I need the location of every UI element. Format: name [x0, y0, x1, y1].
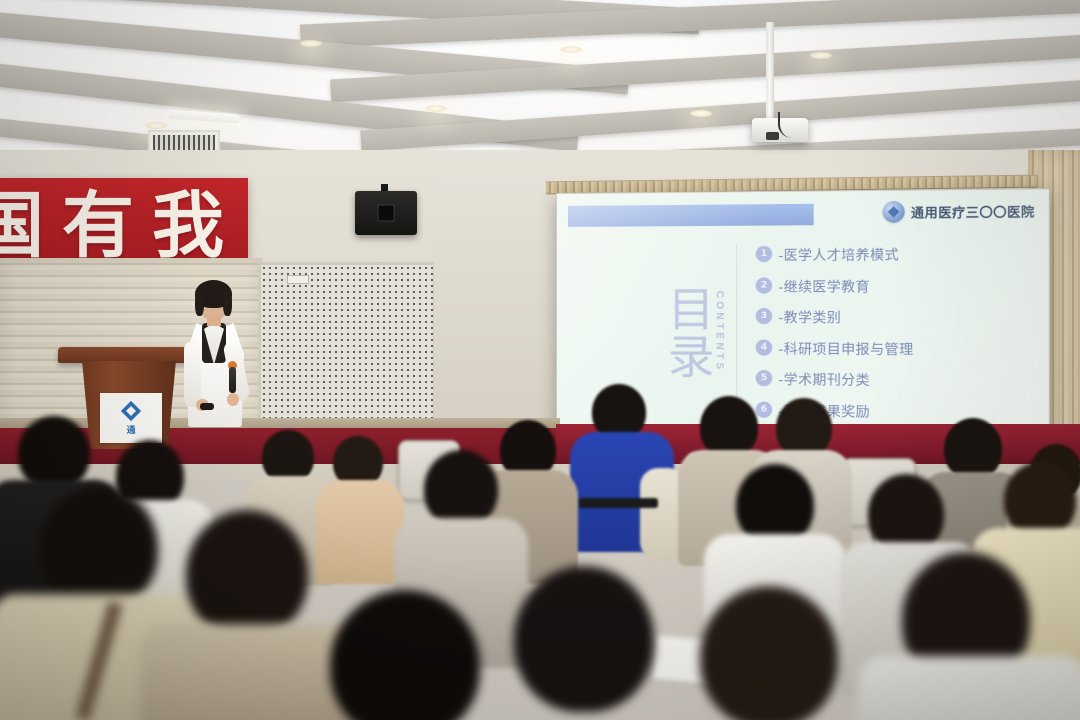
banner-text: 国有我: [0, 178, 242, 260]
audience-body: [140, 624, 362, 720]
presenter-right-hand: [227, 393, 239, 406]
toc-number-badge: 4: [756, 339, 773, 355]
audience-head: [776, 398, 832, 458]
audience-head: [944, 418, 1002, 480]
toc-item: 4 -科研项目申报与管理: [756, 337, 1049, 358]
audience-body: [858, 656, 1080, 720]
presenter: [178, 283, 250, 448]
toc-item: 2 -继续医学教育: [756, 274, 1049, 295]
wall-section-center: [434, 150, 560, 432]
toc-item-label: -继续医学教育: [778, 275, 870, 296]
audience-head: [514, 566, 654, 712]
projector-lens: [766, 132, 779, 140]
toc-item: 5 -学术期刊分类: [756, 368, 1049, 390]
panel-label: [287, 275, 309, 284]
audience-head: [700, 396, 758, 458]
toc-item: 3 -教学类别: [756, 306, 1049, 327]
contents-title-cn: 目录: [665, 284, 710, 379]
hospital-diamond-logo-icon: [120, 400, 142, 422]
toc-number-badge: 1: [756, 246, 773, 262]
slide-logo: 通用医疗三〇〇医院: [883, 200, 1035, 223]
slide-header-bar: [568, 204, 814, 227]
toc-item-label: -医学人才培养模式: [778, 243, 899, 264]
toc-number-badge: 3: [756, 308, 773, 324]
lecture-hall-photo: 国有我 通用医疗三〇〇医院 目录 CO: [0, 0, 1080, 720]
audience-head: [1004, 462, 1076, 538]
red-banner: 国有我: [0, 178, 248, 260]
toc-number-badge: 6: [756, 401, 773, 417]
podium-top: [58, 347, 198, 363]
hospital-globe-logo-icon: [883, 201, 905, 223]
presenter-left-arm: [184, 341, 201, 407]
vertical-dotted-divider: [736, 245, 737, 419]
microphone-body: [229, 367, 236, 393]
toc-item-label: -学术期刊分类: [778, 368, 870, 389]
audience-head: [424, 450, 498, 528]
presenter-hair-side-left: [195, 291, 204, 316]
toc-item-label: -教学类别: [778, 306, 841, 326]
toc-item-label: -科研项目申报与管理: [778, 337, 913, 358]
audience-head: [186, 510, 308, 638]
audience-strap: [578, 498, 658, 508]
acoustic-panel: [258, 262, 436, 428]
audience-body: [316, 480, 404, 584]
podium-logo-plate: 通: [100, 393, 162, 443]
slide-logo-text: 通用医疗三〇〇医院: [911, 201, 1035, 222]
audience-head: [40, 486, 158, 610]
toc-number-badge: 2: [756, 277, 773, 293]
podium-plate-text: 通: [126, 423, 135, 436]
wall-speaker: [355, 191, 417, 235]
presenter-remote-icon: [200, 403, 214, 410]
audience-head: [18, 416, 90, 490]
toc-number-badge: 5: [756, 370, 773, 386]
audience-head: [700, 586, 838, 720]
toc-item: 1 -医学人才培养模式: [756, 243, 1049, 265]
presenter-hair-side-right: [223, 291, 232, 316]
projector-pole: [766, 22, 774, 118]
